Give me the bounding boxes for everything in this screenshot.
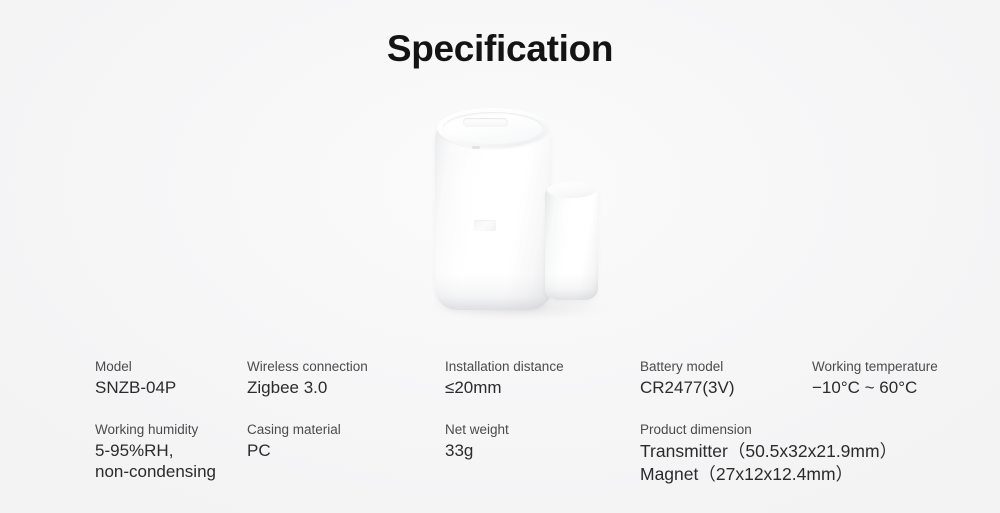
spec-value: Zigbee 3.0: [247, 377, 368, 398]
spec-cell-casing-material: Casing material PC: [247, 421, 341, 461]
magnet-top-face: [547, 182, 596, 198]
spec-value: Transmitter（50.5x32x21.9mm） Magnet（27x12…: [640, 440, 897, 486]
spec-cell-product-dimension: Product dimension Transmitter（50.5x32x21…: [640, 421, 897, 486]
spec-label: Model: [95, 358, 176, 376]
spec-label: Installation distance: [445, 358, 564, 376]
spec-label: Working humidity: [95, 421, 216, 439]
transmitter-base-shading: [435, 274, 551, 310]
product-image-door-window-sensor: [410, 98, 620, 323]
spec-label: Wireless connection: [247, 358, 368, 376]
spec-row: Working humidity 5-95%RH, non-condensing…: [0, 421, 1000, 481]
transmitter-logo-emboss: [474, 220, 496, 231]
spec-cell-working-temperature: Working temperature −10°C ~ 60°C: [812, 358, 938, 398]
spec-cell-working-humidity: Working humidity 5-95%RH, non-condensing: [95, 421, 216, 482]
spec-value: −10°C ~ 60°C: [812, 377, 938, 398]
lid-button: [463, 118, 508, 127]
spec-label: Net weight: [445, 421, 509, 439]
page-title: Specification: [0, 29, 1000, 69]
spec-value: PC: [247, 440, 341, 461]
spec-cell-installation-distance: Installation distance ≤20mm: [445, 358, 564, 398]
spec-value: CR2477(3V): [640, 377, 735, 398]
magnet-base-shading: [545, 273, 598, 300]
spec-cell-wireless-connection: Wireless connection Zigbee 3.0: [247, 358, 368, 398]
spec-value: 5-95%RH, non-condensing: [95, 440, 216, 482]
spec-cell-model: Model SNZB-04P: [95, 358, 176, 398]
spec-cell-battery-model: Battery model CR2477(3V): [640, 358, 735, 398]
spec-value: 33g: [445, 440, 509, 461]
spec-label: Casing material: [247, 421, 341, 439]
spec-row: Model SNZB-04P Wireless connection Zigbe…: [0, 358, 1000, 418]
spec-cell-net-weight: Net weight 33g: [445, 421, 509, 461]
spec-label: Product dimension: [640, 421, 897, 439]
spec-value: SNZB-04P: [95, 377, 176, 398]
transmitter-lid-inner-plate: [443, 112, 543, 144]
specification-page: Specification Model SNZB-04P Wireless co…: [0, 0, 1000, 513]
spec-label: Battery model: [640, 358, 735, 376]
magnet-highlight: [558, 198, 586, 278]
spec-label: Working temperature: [812, 358, 938, 376]
transmitter-highlight: [458, 150, 520, 280]
spec-value: ≤20mm: [445, 377, 564, 398]
transmitter-led-mark: [472, 146, 480, 149]
